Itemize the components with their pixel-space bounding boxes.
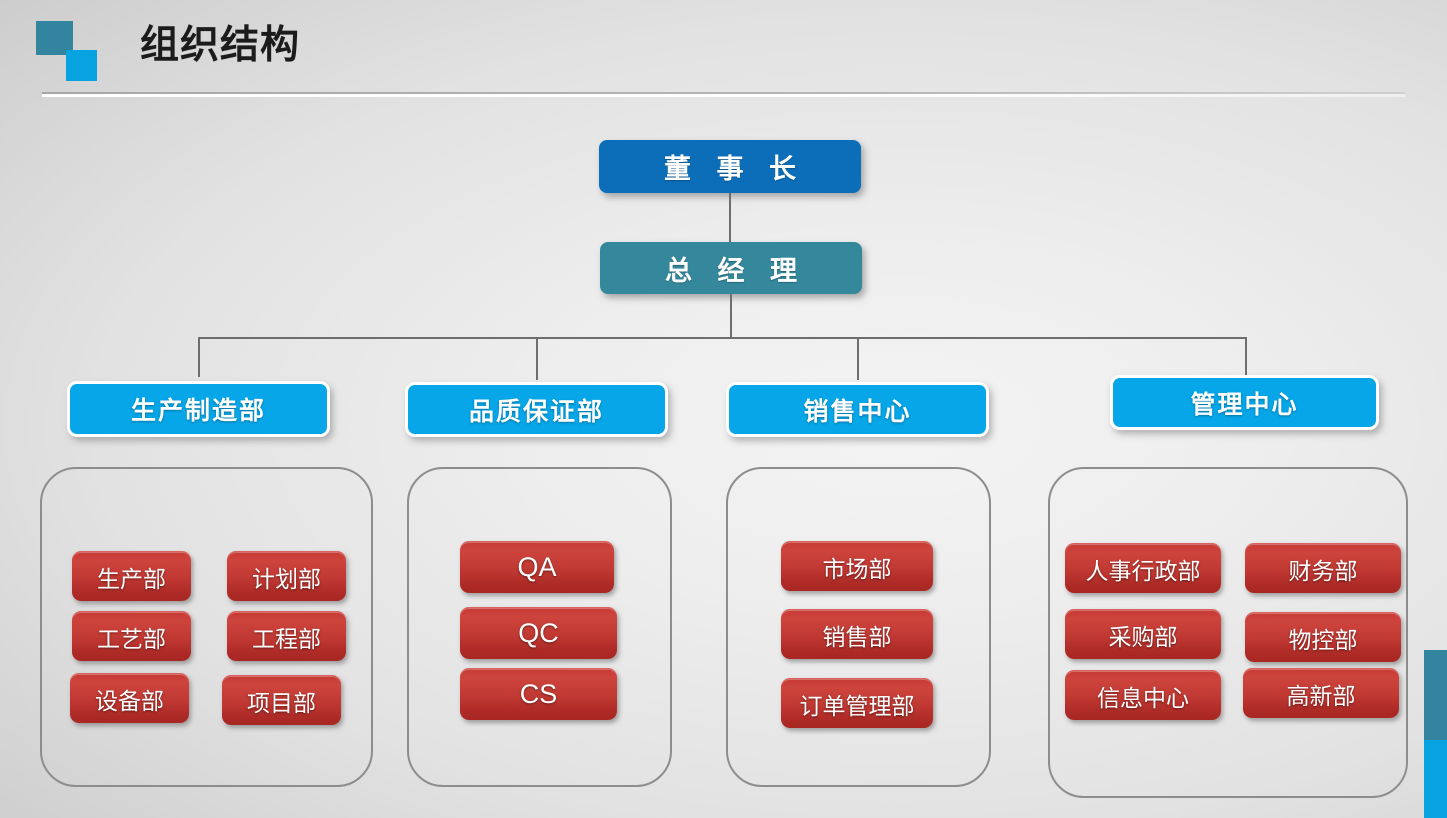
page-title: 组织结构 bbox=[140, 21, 300, 71]
logo-square-light-icon bbox=[66, 50, 97, 81]
decoration-bar-cyan bbox=[1424, 740, 1447, 818]
connector-divisions-bus bbox=[198, 337, 1247, 339]
department-chip[interactable]: 采购部 bbox=[1065, 609, 1221, 659]
header-divider-highlight bbox=[42, 94, 1405, 97]
connector-drop-division-3 bbox=[857, 337, 859, 380]
division-header-quality[interactable]: 品质保证部 bbox=[405, 382, 668, 437]
division-header-production[interactable]: 生产制造部 bbox=[67, 381, 330, 437]
department-chip[interactable]: 设备部 bbox=[70, 673, 189, 723]
department-chip[interactable]: 工艺部 bbox=[72, 611, 191, 661]
department-chip[interactable]: CS bbox=[460, 668, 617, 720]
department-chip[interactable]: 财务部 bbox=[1245, 543, 1401, 593]
decoration-bar-teal bbox=[1424, 650, 1447, 740]
connector-drop-division-2 bbox=[536, 337, 538, 380]
department-chip[interactable]: 项目部 bbox=[222, 675, 341, 725]
department-chip[interactable]: 生产部 bbox=[72, 551, 191, 601]
connector-drop-division-1 bbox=[198, 337, 200, 377]
department-chip[interactable]: 人事行政部 bbox=[1065, 543, 1221, 593]
slide-header: 组织结构 bbox=[0, 0, 1447, 104]
department-chip[interactable]: QC bbox=[460, 607, 617, 659]
department-chip[interactable]: 订单管理部 bbox=[781, 678, 933, 728]
node-general-manager[interactable]: 总 经 理 bbox=[600, 242, 862, 294]
department-chip[interactable]: 信息中心 bbox=[1065, 670, 1221, 720]
division-header-management[interactable]: 管理中心 bbox=[1110, 375, 1379, 430]
connector-gm-stem bbox=[730, 294, 732, 339]
department-chip[interactable]: QA bbox=[460, 541, 614, 593]
department-chip[interactable]: 销售部 bbox=[781, 609, 933, 659]
department-chip[interactable]: 市场部 bbox=[781, 541, 933, 591]
division-header-sales[interactable]: 销售中心 bbox=[726, 382, 989, 437]
connector-chairman-to-gm bbox=[729, 193, 731, 242]
department-chip[interactable]: 物控部 bbox=[1245, 612, 1401, 662]
department-chip[interactable]: 计划部 bbox=[227, 551, 346, 601]
node-chairman[interactable]: 董 事 长 bbox=[599, 140, 861, 193]
org-chart-slide: 组织结构 董 事 长 总 经 理 生产制造部 品质保证部 销售中心 管理中心 生… bbox=[0, 0, 1447, 818]
connector-drop-division-4 bbox=[1245, 337, 1247, 375]
department-chip[interactable]: 工程部 bbox=[227, 611, 346, 661]
department-chip[interactable]: 高新部 bbox=[1243, 668, 1399, 718]
